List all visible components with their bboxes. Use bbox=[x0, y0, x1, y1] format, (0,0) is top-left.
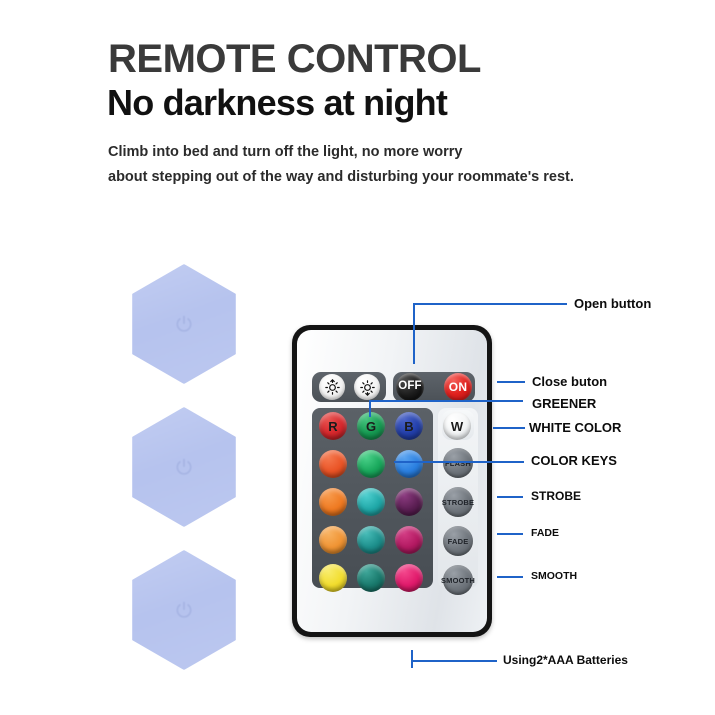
leader-white-color bbox=[493, 427, 525, 429]
flash-button[interactable]: FLASH bbox=[443, 448, 473, 478]
color-button-green[interactable]: G bbox=[357, 412, 385, 440]
color-button-orange[interactable] bbox=[319, 488, 347, 516]
color-button-cyan[interactable] bbox=[357, 488, 385, 516]
color-button-purple[interactable] bbox=[395, 488, 423, 516]
leader-fade bbox=[497, 533, 523, 535]
color-button-dark-teal[interactable] bbox=[357, 564, 385, 592]
callout-fade: FADE bbox=[531, 528, 559, 539]
color-button-orange-red[interactable] bbox=[319, 450, 347, 478]
leader-batteries-horizontal bbox=[411, 660, 497, 662]
smooth-button[interactable]: SMOOTH bbox=[443, 565, 473, 595]
color-button-azure[interactable] bbox=[395, 450, 423, 478]
leader-open-button-horizontal bbox=[413, 303, 567, 305]
color-button-blue[interactable]: B bbox=[395, 412, 423, 440]
color-button-magenta[interactable] bbox=[395, 526, 423, 554]
brightness-down-button[interactable] bbox=[354, 374, 380, 400]
leader-greener-vertical bbox=[369, 400, 371, 417]
color-button-red[interactable]: R bbox=[319, 412, 347, 440]
brightness-down-icon bbox=[359, 379, 376, 396]
brightness-up-icon bbox=[324, 379, 341, 396]
description-line-1: Climb into bed and turn off the light, n… bbox=[108, 140, 574, 165]
remote-faceplate: OFF ON R G B bbox=[297, 330, 487, 632]
hex-light-panel-1[interactable] bbox=[132, 264, 236, 384]
leader-strobe bbox=[497, 496, 523, 498]
callout-white-color: WHITE COLOR bbox=[529, 421, 621, 434]
leader-open-button-vertical bbox=[413, 304, 415, 364]
off-button[interactable]: OFF bbox=[396, 373, 424, 401]
callout-smooth: SMOOTH bbox=[531, 571, 577, 582]
fade-button[interactable]: FADE bbox=[443, 526, 473, 556]
callout-batteries: Using2*AAA Batteries bbox=[503, 654, 628, 666]
power-icon bbox=[174, 457, 194, 477]
page-title: REMOTE CONTROL bbox=[108, 38, 481, 80]
color-button-amber[interactable] bbox=[319, 526, 347, 554]
remote-control: OFF ON R G B bbox=[292, 325, 492, 637]
brightness-up-button[interactable] bbox=[319, 374, 345, 400]
power-icon bbox=[174, 600, 194, 620]
leader-smooth bbox=[497, 576, 523, 578]
color-button-pink[interactable] bbox=[395, 564, 423, 592]
callout-open-button: Open button bbox=[574, 297, 651, 310]
strobe-button[interactable]: STROBE bbox=[443, 487, 473, 517]
leader-color-keys bbox=[394, 461, 524, 463]
color-button-yellow[interactable] bbox=[319, 564, 347, 592]
leader-greener-horizontal bbox=[369, 400, 523, 402]
callout-color-keys: COLOR KEYS bbox=[531, 454, 617, 467]
on-button[interactable]: ON bbox=[444, 373, 472, 401]
color-button-white[interactable]: W bbox=[443, 412, 471, 440]
description-line-2: about stepping out of the way and distur… bbox=[108, 165, 574, 190]
callout-strobe: STROBE bbox=[531, 490, 581, 502]
leader-batteries-vertical bbox=[411, 650, 413, 668]
page-subtitle: No darkness at night bbox=[107, 84, 447, 122]
color-button-emerald[interactable] bbox=[357, 450, 385, 478]
hex-light-panel-2[interactable] bbox=[132, 407, 236, 527]
description-block: Climb into bed and turn off the light, n… bbox=[108, 140, 574, 189]
hex-light-panel-3[interactable] bbox=[132, 550, 236, 670]
power-icon bbox=[174, 314, 194, 334]
callout-greener: GREENER bbox=[532, 397, 596, 410]
color-button-teal[interactable] bbox=[357, 526, 385, 554]
leader-close-button bbox=[497, 381, 525, 383]
callout-close-button: Close buton bbox=[532, 375, 607, 388]
infographic-page: REMOTE CONTROL No darkness at night Clim… bbox=[0, 0, 715, 715]
